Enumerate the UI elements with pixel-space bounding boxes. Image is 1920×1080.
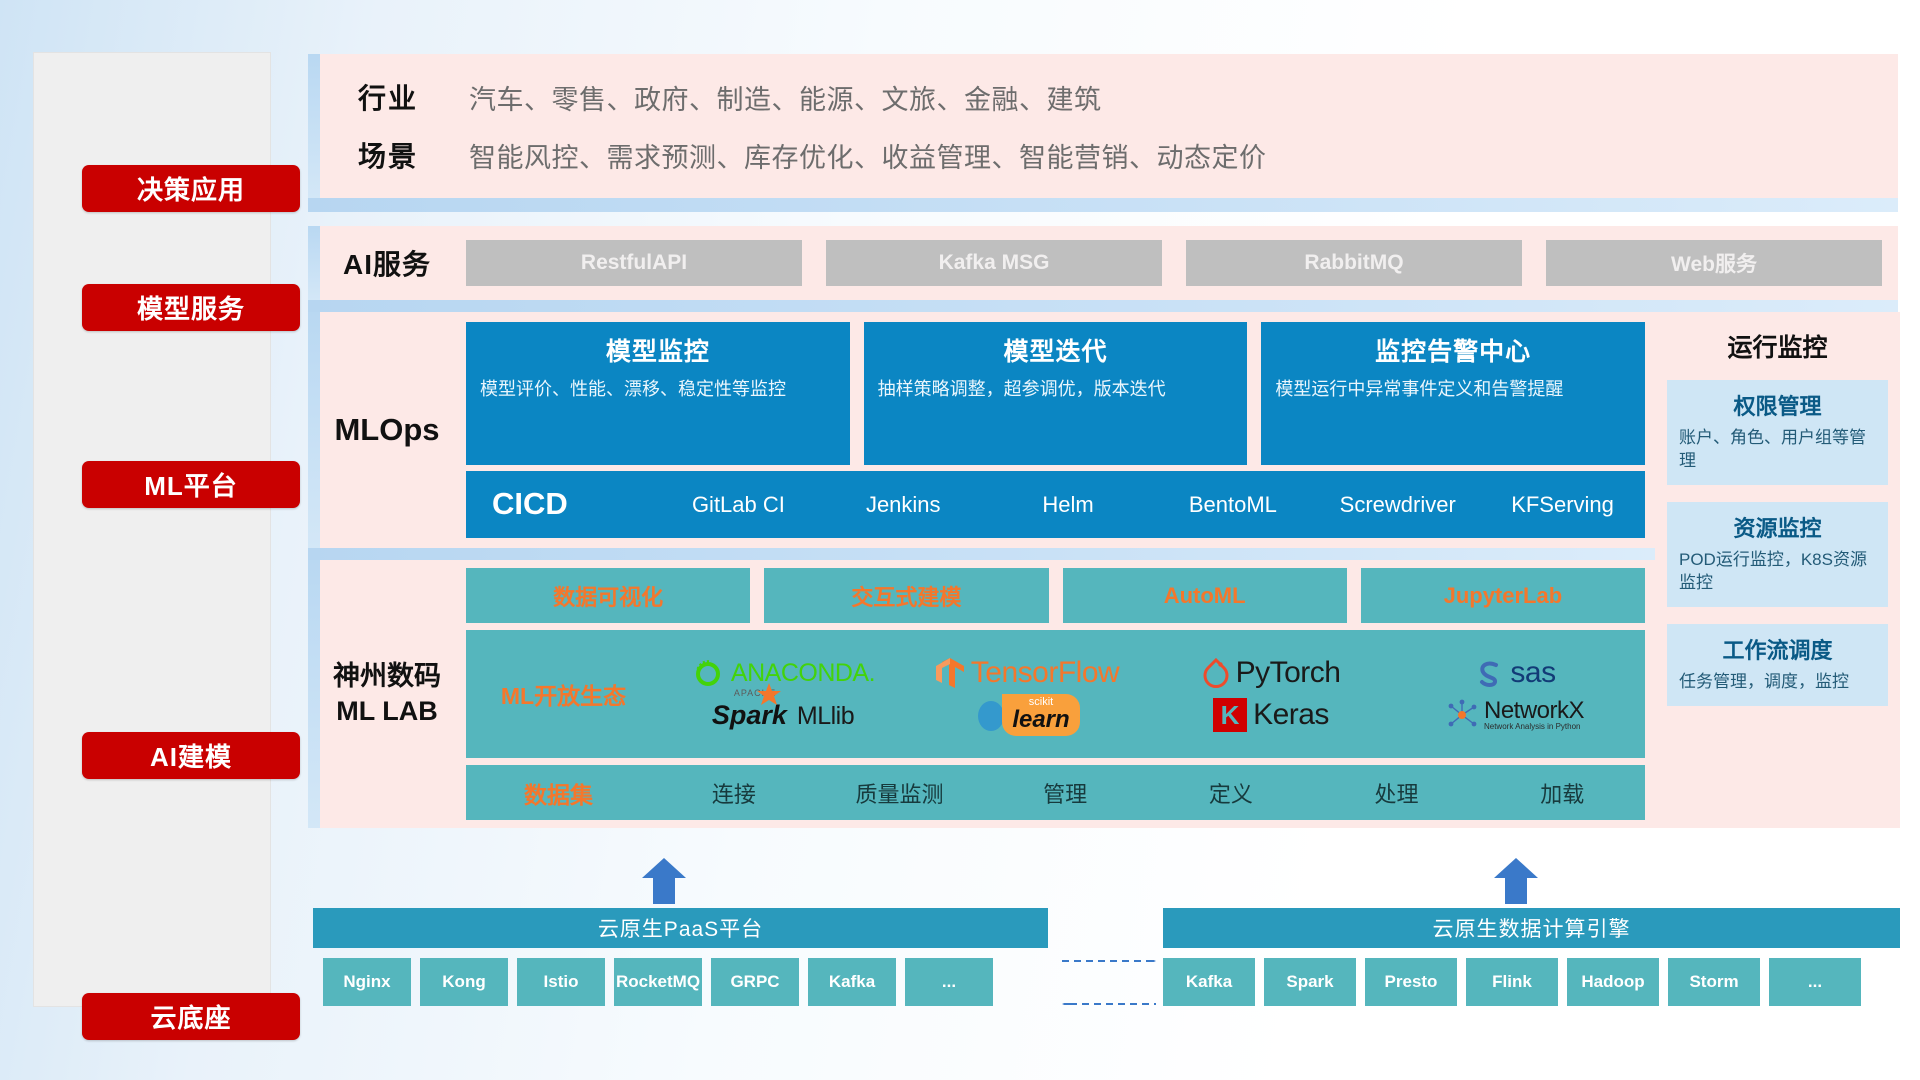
paas-tag-row: Nginx Kong Istio RocketMQ GRPC Kafka ... bbox=[323, 958, 993, 1006]
chip-web-service[interactable]: Web服务 bbox=[1546, 240, 1882, 286]
monitoring-card-resource[interactable]: 资源监控 POD运行监控，K8S资源监控 bbox=[1667, 502, 1888, 607]
ai-service-label: AI服务 bbox=[308, 243, 466, 283]
card-model-iteration[interactable]: 模型迭代 抽样策略调整，超参调优，版本迭代 bbox=[864, 322, 1248, 465]
paas-tag-more[interactable]: ... bbox=[905, 958, 993, 1006]
mlops-card-row: 模型监控 模型评价、性能、漂移、稳定性等监控 模型迭代 抽样策略调整，超参调优，… bbox=[466, 322, 1645, 465]
anaconda-logo: ANACONDA. bbox=[691, 656, 875, 690]
paas-tag-istio[interactable]: Istio bbox=[517, 958, 605, 1006]
rail-item-model-service[interactable]: 模型服务 bbox=[82, 284, 300, 331]
cicd-item-kfserving[interactable]: KFServing bbox=[1480, 493, 1645, 516]
networkx-text: NetworkX bbox=[1484, 699, 1584, 723]
ecosystem-label: ML开放生态 bbox=[466, 677, 661, 711]
tensorflow-mark bbox=[935, 656, 965, 690]
mlops-body: 模型监控 模型评价、性能、漂移、稳定性等监控 模型迭代 抽样策略调整，超参调优，… bbox=[466, 312, 1655, 548]
card-desc: 模型评价、性能、漂移、稳定性等监控 bbox=[480, 377, 836, 402]
cicd-item-helm[interactable]: Helm bbox=[986, 493, 1151, 516]
cicd-item-gitlab-ci[interactable]: GitLab CI bbox=[656, 493, 821, 516]
paas-tag-kong[interactable]: Kong bbox=[420, 958, 508, 1006]
runtime-monitoring-panel: 运行监控 权限管理 账户、角色、用户组等管理 资源监控 POD运行监控，K8S资… bbox=[1655, 312, 1900, 828]
scene-value: 智能风控、需求预测、库存优化、收益管理、智能营销、动态定价 bbox=[469, 136, 1267, 175]
card-title: 模型迭代 bbox=[878, 332, 1234, 368]
cicd-item-list: GitLab CI Jenkins Helm BentoML Screwdriv… bbox=[656, 493, 1645, 516]
ml-lab-label: 神州数码 ML LAB bbox=[308, 560, 466, 828]
dataset-title: 数据集 bbox=[466, 776, 651, 810]
monitoring-card-desc: 账户、角色、用户组等管理 bbox=[1679, 427, 1876, 473]
monitoring-card-desc: 任务管理，调度，监控 bbox=[1679, 671, 1876, 694]
ai-modeling-section: 神州数码 ML LAB 数据可视化 交互式建模 AutoML JupyterLa… bbox=[308, 560, 1655, 828]
tool-data-visualization[interactable]: 数据可视化 bbox=[466, 568, 750, 623]
arrow-up-paas-icon bbox=[642, 858, 686, 904]
card-desc: 抽样策略调整，超参调优，版本迭代 bbox=[878, 377, 1234, 402]
engine-tag-flink[interactable]: Flink bbox=[1466, 958, 1558, 1006]
engine-tag-storm[interactable]: Storm bbox=[1668, 958, 1760, 1006]
band-edge bbox=[308, 226, 320, 300]
chip-restful-api[interactable]: RestfulAPI bbox=[466, 240, 802, 286]
paas-tag-kafka[interactable]: Kafka bbox=[808, 958, 896, 1006]
learn-text: learn bbox=[1012, 708, 1069, 732]
engine-tag-hadoop[interactable]: Hadoop bbox=[1567, 958, 1659, 1006]
ai-service-chip-row: RestfulAPI Kafka MSG RabbitMQ Web服务 bbox=[466, 240, 1898, 286]
monitoring-card-workflow[interactable]: 工作流调度 任务管理，调度，监控 bbox=[1667, 624, 1888, 706]
chip-kafka-msg[interactable]: Kafka MSG bbox=[826, 240, 1162, 286]
card-title: 模型监控 bbox=[480, 332, 836, 368]
scikit-learn-logo: scikit learn bbox=[974, 694, 1079, 736]
ecosystem-logo-grid: ANACONDA. TensorFlow bbox=[661, 652, 1645, 736]
mlops-label: MLOps bbox=[308, 312, 466, 548]
paas-tag-grpc[interactable]: GRPC bbox=[711, 958, 799, 1006]
dataset-item-manage[interactable]: 管理 bbox=[982, 777, 1148, 809]
dataset-item-load[interactable]: 加载 bbox=[1479, 777, 1645, 809]
mllib-text: MLlib bbox=[797, 702, 854, 731]
networkx-subtitle: Network Analysis in Python bbox=[1484, 723, 1584, 731]
keras-text: Keras bbox=[1253, 698, 1329, 732]
industry-key: 行业 bbox=[334, 77, 469, 117]
tool-jupyterlab[interactable]: JupyterLab bbox=[1361, 568, 1645, 623]
ml-lab-body: 数据可视化 交互式建模 AutoML JupyterLab ML开放生态 ANA… bbox=[466, 560, 1655, 828]
scene-key: 场景 bbox=[334, 135, 469, 175]
cicd-item-screwdriver[interactable]: Screwdriver bbox=[1315, 493, 1480, 516]
monitoring-card-permission[interactable]: 权限管理 账户、角色、用户组等管理 bbox=[1667, 380, 1888, 485]
rail-item-decision-app[interactable]: 决策应用 bbox=[82, 165, 300, 212]
networkx-mark bbox=[1446, 699, 1478, 731]
engine-tag-kafka[interactable]: Kafka bbox=[1163, 958, 1255, 1006]
pytorch-mark bbox=[1202, 656, 1230, 690]
spark-star-icon bbox=[756, 682, 782, 708]
engine-tag-presto[interactable]: Presto bbox=[1365, 958, 1457, 1006]
engine-tag-spark[interactable]: Spark bbox=[1264, 958, 1356, 1006]
monitoring-card-title: 工作流调度 bbox=[1679, 633, 1876, 665]
mlops-section: MLOps 模型监控 模型评价、性能、漂移、稳定性等监控 模型迭代 抽样策略调整… bbox=[308, 312, 1655, 548]
rail-label: ML平台 bbox=[144, 466, 238, 503]
scene-row: 场景 智能风控、需求预测、库存优化、收益管理、智能营销、动态定价 bbox=[334, 126, 1898, 184]
tensorflow-logo: TensorFlow bbox=[935, 656, 1119, 690]
networkx-logo: NetworkX Network Analysis in Python bbox=[1446, 699, 1584, 731]
data-engine-tag-row: Kafka Spark Presto Flink Hadoop Storm ..… bbox=[1163, 958, 1861, 1006]
cloud-native-data-engine-bar[interactable]: 云原生数据计算引擎 bbox=[1163, 908, 1900, 948]
tensorflow-text: TensorFlow bbox=[971, 656, 1119, 690]
cicd-row: CICD GitLab CI Jenkins Helm BentoML Scre… bbox=[466, 471, 1645, 539]
pytorch-logo: PyTorch bbox=[1202, 656, 1341, 690]
scikit-learn-badge: scikit learn bbox=[1002, 694, 1079, 736]
cloud-native-paas-bar[interactable]: 云原生PaaS平台 bbox=[313, 908, 1048, 948]
keras-mark: K bbox=[1213, 698, 1247, 732]
chip-rabbitmq[interactable]: RabbitMQ bbox=[1186, 240, 1522, 286]
keras-k-text: K bbox=[1221, 700, 1240, 731]
rail-label: 决策应用 bbox=[137, 170, 245, 207]
industry-value: 汽车、零售、政府、制造、能源、文旅、金融、建筑 bbox=[469, 78, 1102, 117]
dataset-item-process[interactable]: 处理 bbox=[1314, 777, 1480, 809]
dataset-item-list: 连接 质量监测 管理 定义 处理 加载 bbox=[651, 777, 1645, 809]
rail-label: AI建模 bbox=[150, 737, 232, 774]
diagram-canvas: 决策应用 模型服务 ML平台 AI建模 云底座 行业 汽车、零售、政府、制造、能… bbox=[0, 0, 1920, 1080]
ml-lab-line2: ML LAB bbox=[336, 694, 438, 729]
sas-mark bbox=[1474, 658, 1504, 688]
tool-row: 数据可视化 交互式建模 AutoML JupyterLab bbox=[466, 568, 1645, 623]
band-edge bbox=[308, 54, 320, 198]
monitoring-title: 运行监控 bbox=[1667, 328, 1888, 364]
tool-automl[interactable]: AutoML bbox=[1063, 568, 1347, 623]
cicd-item-bentoml[interactable]: BentoML bbox=[1150, 493, 1315, 516]
paas-tag-rocketmq[interactable]: RocketMQ bbox=[614, 958, 702, 1006]
dashed-connector-left-icon bbox=[1062, 1003, 1156, 1005]
keras-logo: K Keras bbox=[1213, 698, 1329, 732]
rail-label: 模型服务 bbox=[137, 289, 245, 326]
sas-logo: sas bbox=[1474, 656, 1555, 690]
band-edge bbox=[308, 560, 320, 828]
monitoring-card-title: 权限管理 bbox=[1679, 389, 1876, 421]
industry-scene-section: 行业 汽车、零售、政府、制造、能源、文旅、金融、建筑 场景 智能风控、需求预测、… bbox=[308, 54, 1898, 198]
anaconda-text: ANACONDA. bbox=[731, 659, 875, 688]
rail-item-cloud-base[interactable]: 云底座 bbox=[82, 993, 300, 1040]
monitoring-card-title: 资源监控 bbox=[1679, 511, 1876, 543]
ml-lab-line1: 神州数码 bbox=[333, 659, 441, 694]
card-desc: 模型运行中异常事件定义和告警提醒 bbox=[1275, 377, 1631, 402]
dataset-item-define[interactable]: 定义 bbox=[1148, 777, 1314, 809]
monitoring-card-desc: POD运行监控，K8S资源监控 bbox=[1679, 549, 1876, 595]
tool-interactive-modeling[interactable]: 交互式建模 bbox=[764, 568, 1048, 623]
sas-text: sas bbox=[1510, 656, 1555, 690]
dataset-item-quality[interactable]: 质量监测 bbox=[817, 777, 983, 809]
dataset-row: 数据集 连接 质量监测 管理 定义 处理 加载 bbox=[466, 765, 1645, 820]
arrow-up-data-engine-icon bbox=[1494, 858, 1538, 904]
rail-label: 云底座 bbox=[150, 998, 231, 1035]
dashed-connector-right-icon bbox=[1062, 960, 1156, 962]
layer-rail: 决策应用 模型服务 ML平台 AI建模 云底座 bbox=[33, 52, 271, 1007]
spark-mllib-logo: APACHE Spark MLlib bbox=[712, 700, 854, 731]
divider-strip bbox=[308, 198, 1898, 212]
industry-table: 行业 汽车、零售、政府、制造、能源、文旅、金融、建筑 场景 智能风控、需求预测、… bbox=[334, 68, 1898, 184]
industry-row: 行业 汽车、零售、政府、制造、能源、文旅、金融、建筑 bbox=[334, 68, 1898, 126]
rail-item-ai-modeling[interactable]: AI建模 bbox=[82, 732, 300, 779]
pytorch-text: PyTorch bbox=[1236, 656, 1341, 690]
anaconda-mark bbox=[691, 656, 725, 690]
cicd-title: CICD bbox=[466, 486, 656, 522]
card-title: 监控告警中心 bbox=[1275, 332, 1631, 368]
card-alert-center[interactable]: 监控告警中心 模型运行中异常事件定义和告警提醒 bbox=[1261, 322, 1645, 465]
ai-service-section: AI服务 RestfulAPI Kafka MSG RabbitMQ Web服务 bbox=[308, 226, 1898, 300]
paas-tag-nginx[interactable]: Nginx bbox=[323, 958, 411, 1006]
engine-tag-more[interactable]: ... bbox=[1769, 958, 1861, 1006]
card-model-monitoring[interactable]: 模型监控 模型评价、性能、漂移、稳定性等监控 bbox=[466, 322, 850, 465]
band-edge bbox=[308, 312, 320, 548]
ml-ecosystem-row: ML开放生态 ANACONDA. Ten bbox=[466, 630, 1645, 758]
rail-item-ml-platform[interactable]: ML平台 bbox=[82, 461, 300, 508]
cicd-item-jenkins[interactable]: Jenkins bbox=[821, 493, 986, 516]
dataset-item-connect[interactable]: 连接 bbox=[651, 777, 817, 809]
